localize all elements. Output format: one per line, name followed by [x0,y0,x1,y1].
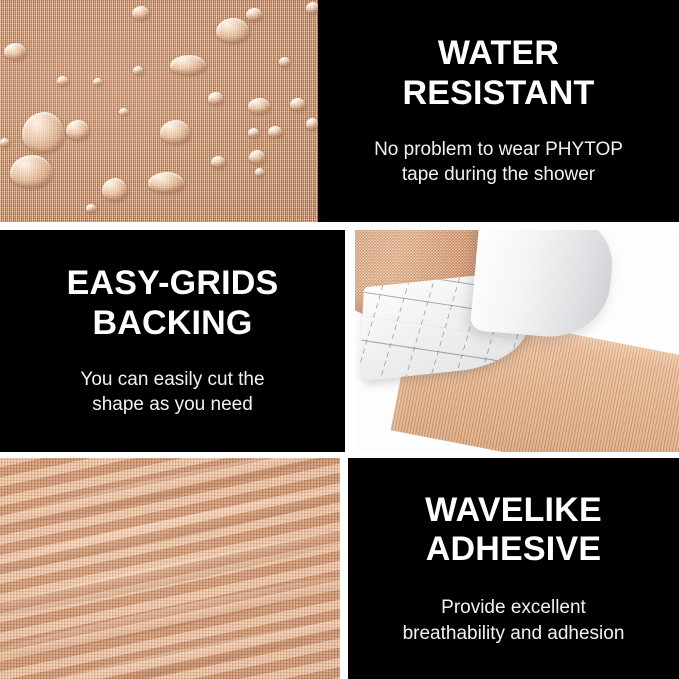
water-droplet [170,55,206,74]
easy-grids-backing-photo [355,230,679,452]
product-feature-infographic: WATER RESISTANT No problem to wear PHYTO… [0,0,679,679]
panel-headline-easy-grids: EASY-GRIDS BACKING [67,264,279,343]
wavelike-adhesive-text-panel: WAVELIKE ADHESIVE Provide excellent brea… [348,458,679,679]
water-droplet [211,156,225,167]
water-droplet [102,178,127,200]
water-droplet [93,78,102,85]
water-droplet [248,128,259,137]
water-droplet [216,18,249,42]
water-resistant-photo [0,0,318,222]
water-droplet [10,155,52,187]
water-droplet [279,57,290,66]
panel-headline-water-resistant: WATER RESISTANT [403,34,595,113]
water-droplet [57,76,68,85]
water-droplet [132,6,149,19]
water-droplet [255,168,264,176]
water-droplet [208,92,223,104]
water-droplet [246,8,262,20]
water-droplet [66,120,89,139]
water-droplet [86,204,96,212]
water-droplet [0,138,9,146]
panel-subtext-water-resistant: No problem to wear PHYTOP tape during th… [374,137,623,188]
water-droplet [290,98,305,110]
panel-subtext-easy-grids: You can easily cut the shape as you need [80,367,264,418]
water-droplet [306,2,318,13]
water-droplet [22,112,64,152]
water-droplet [119,108,128,115]
panel-headline-wavelike: WAVELIKE ADHESIVE [425,491,602,570]
water-droplet [133,66,143,74]
water-resistant-text-panel: WATER RESISTANT No problem to wear PHYTO… [318,0,679,222]
water-droplet [306,118,318,129]
water-droplet [268,126,282,137]
water-droplet [249,150,265,163]
water-droplet [160,120,190,143]
peeled-backing-curl [470,230,616,342]
water-droplet [148,172,184,192]
water-droplet [4,43,26,59]
wavelike-adhesive-photo [0,458,340,679]
easy-grids-text-panel: EASY-GRIDS BACKING You can easily cut th… [0,230,345,452]
panel-subtext-wavelike: Provide excellent breathability and adhe… [403,595,625,646]
water-droplet [248,98,270,113]
